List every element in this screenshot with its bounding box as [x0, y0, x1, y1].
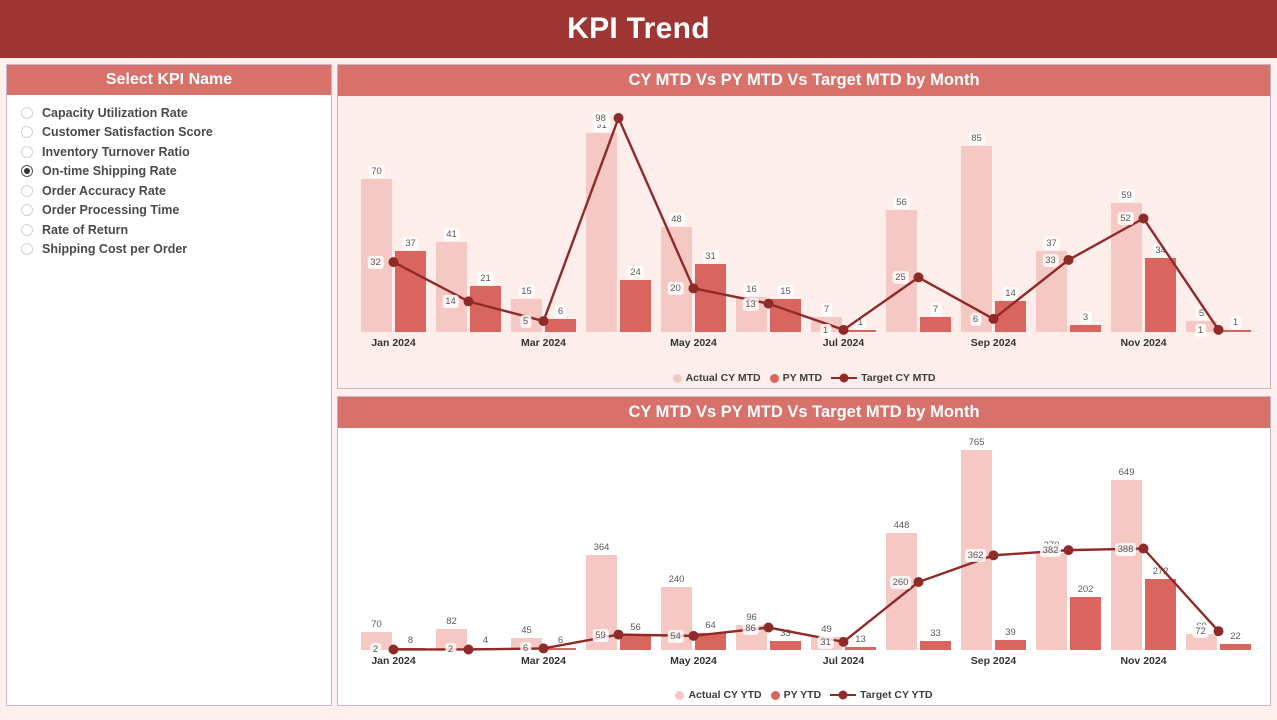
mtd-chart-legend: Actual CY MTDPY MTDTarget CY MTD	[338, 372, 1270, 384]
slicer-item-label: Rate of Return	[42, 223, 128, 237]
target-point[interactable]	[614, 113, 624, 123]
target-value-label: 59	[592, 629, 609, 642]
legend-label: PY YTD	[784, 689, 822, 701]
target-value-label: 260	[890, 576, 912, 589]
kpi-slicer-list: Capacity Utilization RateCustomer Satisf…	[7, 95, 331, 259]
mtd-chart-header: CY MTD Vs PY MTD Vs Target MTD by Month	[338, 65, 1270, 96]
legend-dot-marker	[675, 691, 684, 700]
target-point[interactable]	[464, 296, 474, 306]
ytd-chart-title: CY MTD Vs PY MTD Vs Target MTD by Month	[628, 403, 979, 422]
x-axis-tick-label: Nov 2024	[1120, 337, 1166, 349]
x-axis-tick-label: Jan 2024	[371, 655, 415, 667]
x-axis-tick-label: Sep 2024	[971, 655, 1017, 667]
target-point[interactable]	[1064, 255, 1074, 265]
target-point[interactable]	[839, 325, 849, 335]
legend-label: Actual CY MTD	[686, 372, 761, 384]
target-point[interactable]	[764, 623, 774, 633]
radio-icon[interactable]	[21, 204, 33, 216]
radio-icon[interactable]	[21, 107, 33, 119]
radio-icon[interactable]	[21, 126, 33, 138]
target-value-label: 1	[1195, 324, 1206, 337]
ytd-chart-card: CY MTD Vs PY MTD Vs Target MTD by Month …	[337, 396, 1271, 706]
target-point[interactable]	[839, 637, 849, 647]
target-point[interactable]	[1064, 545, 1074, 555]
legend-item[interactable]: PY YTD	[771, 689, 822, 701]
target-value-label: 86	[742, 622, 759, 635]
legend-label: PY MTD	[783, 372, 822, 384]
legend-dot-marker	[770, 374, 779, 383]
slicer-item[interactable]: Order Accuracy Rate	[21, 181, 331, 201]
legend-label: Target CY MTD	[861, 372, 935, 384]
legend-dot-marker	[673, 374, 682, 383]
ytd-chart-legend: Actual CY YTDPY YTDTarget CY YTD	[338, 689, 1270, 701]
legend-item[interactable]: Target CY MTD	[831, 372, 935, 384]
legend-item[interactable]: PY MTD	[770, 372, 822, 384]
plot-area: 7037412115691244831161571567851437359345…	[338, 96, 1270, 358]
radio-icon[interactable]	[21, 146, 33, 158]
legend-line-marker	[831, 377, 857, 379]
target-point[interactable]	[614, 630, 624, 640]
target-point[interactable]	[1139, 544, 1149, 554]
legend-label: Target CY YTD	[860, 689, 932, 701]
slicer-item[interactable]: On-time Shipping Rate	[21, 162, 331, 182]
ytd-chart-header: CY MTD Vs PY MTD Vs Target MTD by Month	[338, 397, 1270, 428]
target-value-label: 32	[367, 256, 384, 269]
legend-item[interactable]: Actual CY YTD	[675, 689, 761, 701]
radio-icon[interactable]	[21, 243, 33, 255]
target-line-layer	[338, 96, 1270, 358]
x-axis-tick-label: Sep 2024	[971, 337, 1017, 349]
target-value-label: 2	[445, 643, 456, 656]
target-value-label: 6	[970, 313, 981, 326]
x-axis-tick-label: Mar 2024	[521, 655, 566, 667]
x-axis-tick-label: Jul 2024	[823, 337, 864, 349]
target-point[interactable]	[389, 257, 399, 267]
target-value-label: 54	[667, 630, 684, 643]
target-point[interactable]	[539, 316, 549, 326]
x-axis-tick-label: May 2024	[670, 337, 717, 349]
kpi-slicer-panel: Select KPI Name Capacity Utilization Rat…	[6, 64, 332, 706]
ytd-chart-plot[interactable]: 7088244563645624064963349134483376539370…	[338, 428, 1270, 676]
slicer-item-label: Capacity Utilization Rate	[42, 106, 188, 120]
target-value-label: 25	[892, 271, 909, 284]
radio-selected-icon[interactable]	[21, 165, 33, 177]
target-point[interactable]	[464, 644, 474, 654]
target-point[interactable]	[689, 283, 699, 293]
dashboard-root: KPI Trend Select KPI Name Capacity Utili…	[0, 0, 1277, 720]
kpi-slicer-title: Select KPI Name	[106, 71, 232, 89]
target-point[interactable]	[389, 644, 399, 654]
slicer-item-label: Customer Satisfaction Score	[42, 125, 213, 139]
slicer-item[interactable]: Capacity Utilization Rate	[21, 103, 331, 123]
slicer-item-label: Shipping Cost per Order	[42, 242, 187, 256]
target-point[interactable]	[989, 314, 999, 324]
target-value-label: 362	[965, 549, 987, 562]
target-value-label: 13	[742, 298, 759, 311]
x-axis-tick-label: Jul 2024	[823, 655, 864, 667]
target-line	[394, 118, 1219, 330]
target-point[interactable]	[539, 643, 549, 653]
target-value-label: 52	[1117, 212, 1134, 225]
target-point[interactable]	[1214, 626, 1224, 636]
slicer-item[interactable]: Order Processing Time	[21, 201, 331, 221]
slicer-item[interactable]: Customer Satisfaction Score	[21, 123, 331, 143]
target-point[interactable]	[689, 631, 699, 641]
legend-line-marker	[830, 694, 856, 696]
mtd-chart-plot[interactable]: 7037412115691244831161571567851437359345…	[338, 96, 1270, 358]
target-point[interactable]	[1214, 325, 1224, 335]
target-point[interactable]	[989, 550, 999, 560]
target-point[interactable]	[914, 577, 924, 587]
mtd-chart-card: CY MTD Vs PY MTD Vs Target MTD by Month …	[337, 64, 1271, 389]
target-value-label: 388	[1115, 543, 1137, 556]
target-value-label: 33	[1042, 254, 1059, 267]
target-line	[394, 549, 1219, 650]
slicer-item[interactable]: Rate of Return	[21, 220, 331, 240]
slicer-item-label: Order Accuracy Rate	[42, 184, 166, 198]
legend-dot-marker	[771, 691, 780, 700]
legend-label: Actual CY YTD	[688, 689, 761, 701]
slicer-item-label: Order Processing Time	[42, 203, 179, 217]
slicer-item[interactable]: Shipping Cost per Order	[21, 240, 331, 260]
plot-area: 7088244563645624064963349134483376539370…	[338, 428, 1270, 676]
target-value-label: 382	[1040, 544, 1062, 557]
slicer-item[interactable]: Inventory Turnover Ratio	[21, 142, 331, 162]
kpi-slicer-header: Select KPI Name	[7, 65, 331, 95]
target-point[interactable]	[914, 272, 924, 282]
x-axis-tick-label: Mar 2024	[521, 337, 566, 349]
legend-item[interactable]: Target CY YTD	[830, 689, 932, 701]
target-value-label: 31	[817, 636, 834, 649]
page-title: KPI Trend	[567, 12, 710, 46]
mtd-chart-title: CY MTD Vs PY MTD Vs Target MTD by Month	[628, 71, 979, 90]
target-value-label: 5	[520, 315, 531, 328]
target-value-label: 20	[667, 282, 684, 295]
target-value-label: 98	[592, 112, 609, 125]
x-axis-tick-label: Nov 2024	[1120, 655, 1166, 667]
target-value-label: 72	[1192, 625, 1209, 638]
radio-icon[interactable]	[21, 185, 33, 197]
page-header: KPI Trend	[0, 0, 1277, 58]
target-value-label: 14	[442, 295, 459, 308]
target-value-label: 6	[520, 642, 531, 655]
slicer-item-label: On-time Shipping Rate	[42, 164, 177, 178]
x-axis-tick-label: May 2024	[670, 655, 717, 667]
slicer-item-label: Inventory Turnover Ratio	[42, 145, 190, 159]
radio-icon[interactable]	[21, 224, 33, 236]
target-point[interactable]	[764, 299, 774, 309]
x-axis-tick-label: Jan 2024	[371, 337, 415, 349]
target-point[interactable]	[1139, 213, 1149, 223]
legend-item[interactable]: Actual CY MTD	[673, 372, 761, 384]
target-value-label: 1	[820, 324, 831, 337]
